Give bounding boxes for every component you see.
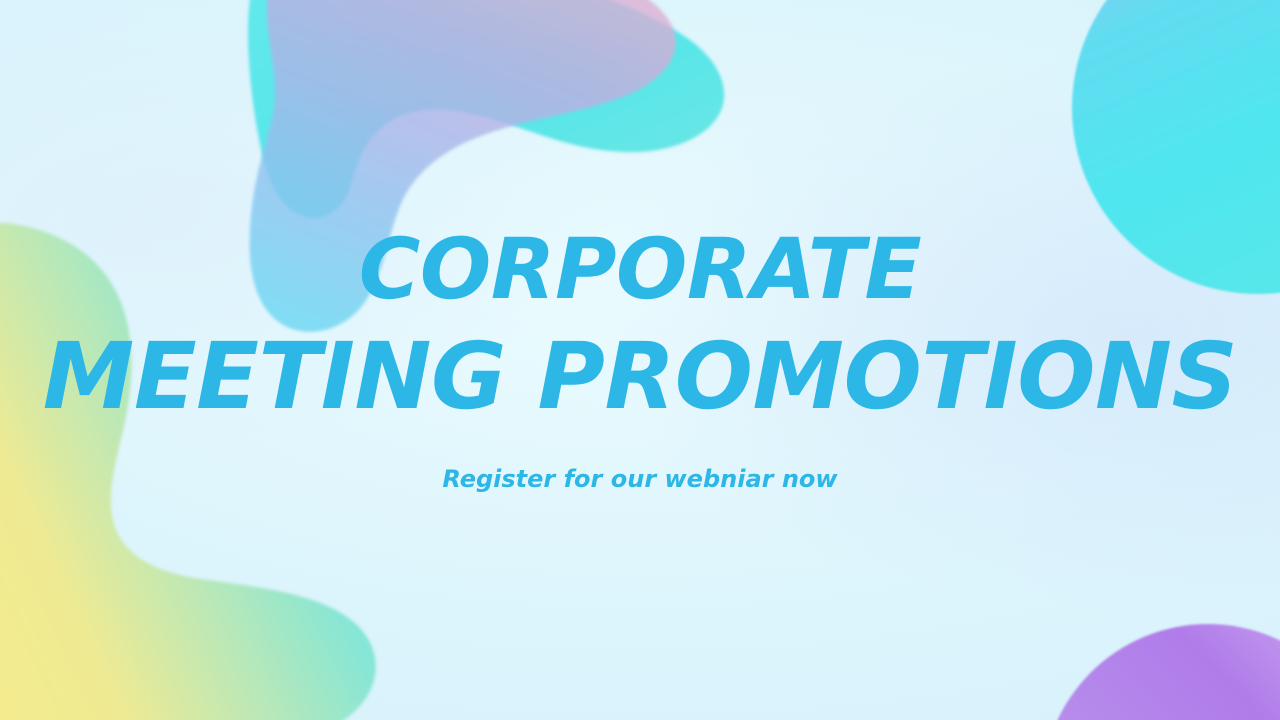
title-line-1: CORPORATE xyxy=(359,227,922,311)
subtitle: Register for our webniar now xyxy=(442,465,837,493)
title-line-2: MEETING PROMOTIONS xyxy=(43,331,1237,423)
slide-content: CORPORATE MEETING PROMOTIONS Register fo… xyxy=(0,0,1280,720)
promo-slide: CORPORATE MEETING PROMOTIONS Register fo… xyxy=(0,0,1280,720)
